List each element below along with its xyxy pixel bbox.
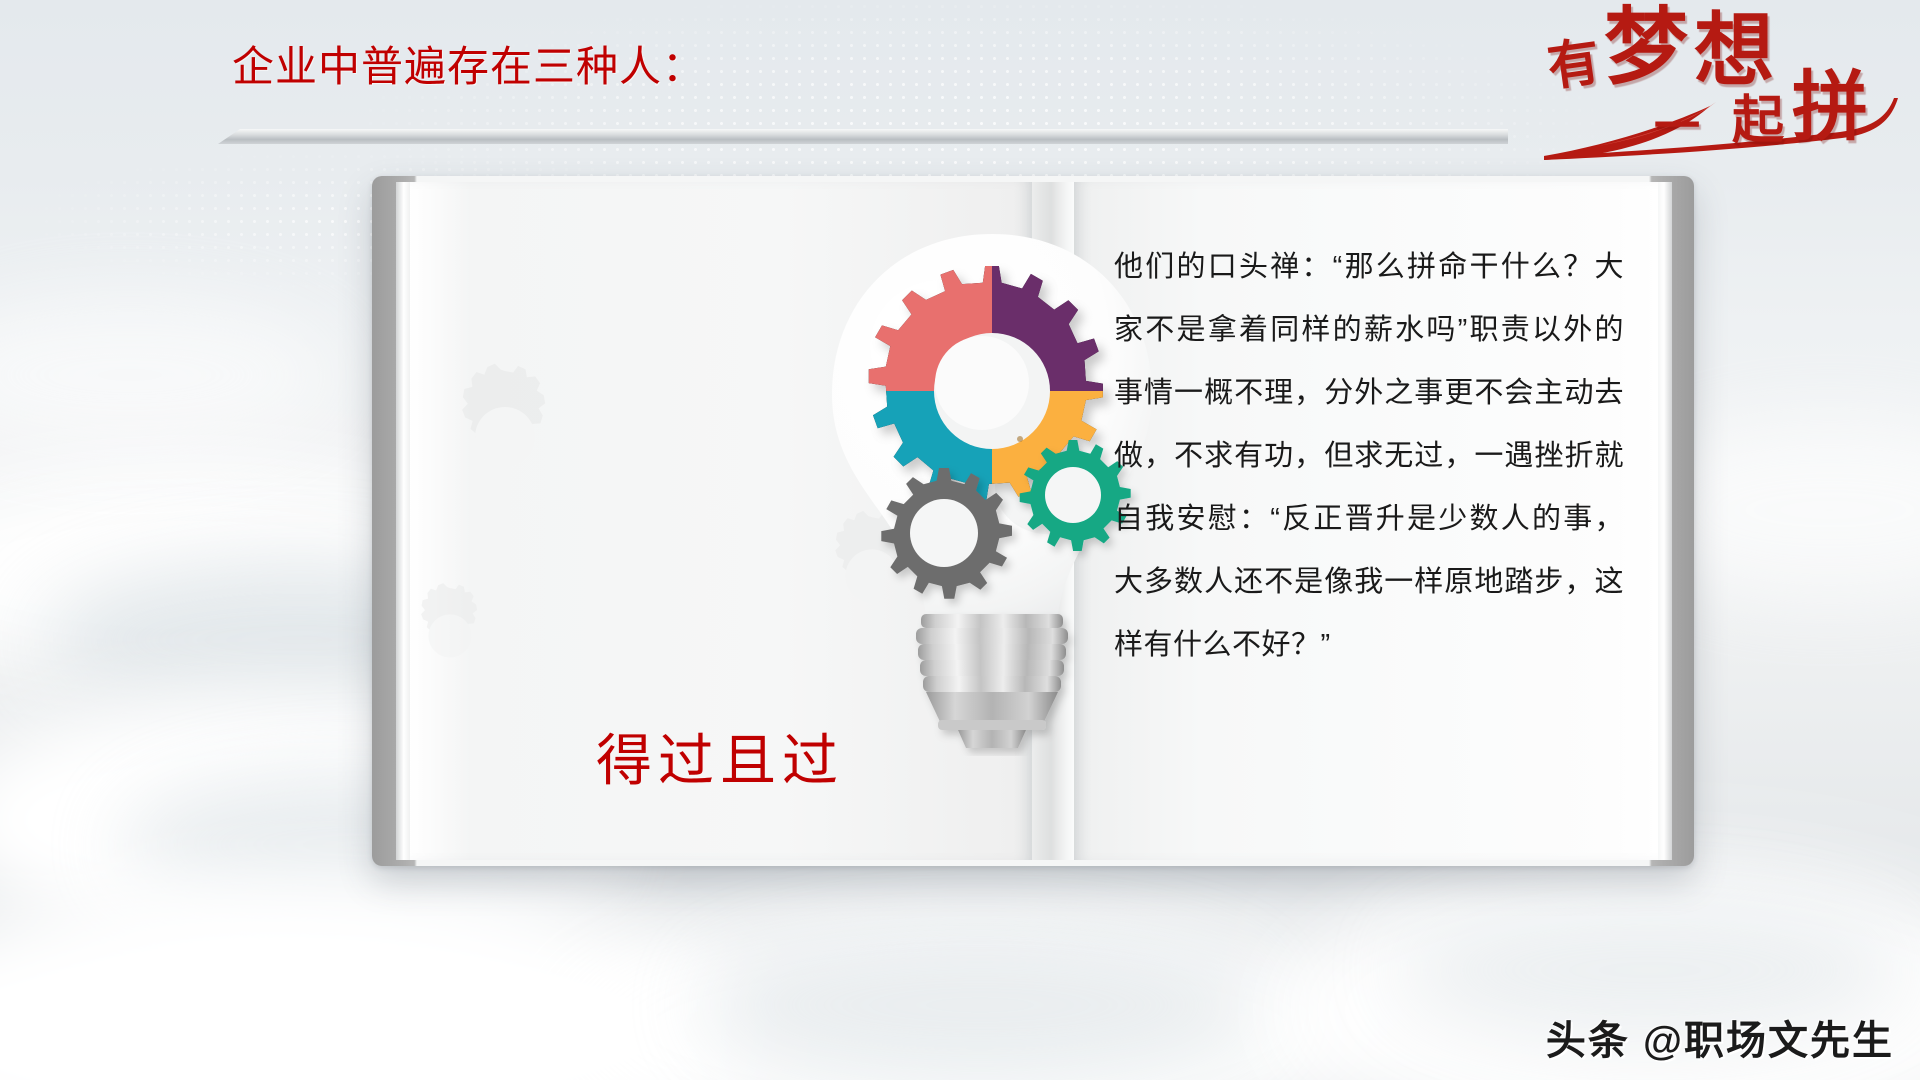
body-paragraph: 他们的口头禅：“那么拼命干什么？大家不是拿着同样的薪水吗”职责以外的事情一概不理… [1114, 236, 1624, 677]
title-divider [218, 129, 1508, 144]
ghost-gear-icon [430, 362, 580, 512]
bulb-caption: 得过且过 [408, 716, 1032, 797]
open-book: 得过且过 他们的口头禅：“那么拼命干什么？大家不是拿着同样的薪水吗”职责以外的事… [372, 176, 1694, 866]
ghost-gear-icon [390, 576, 510, 696]
slide-canvas: 企业中普遍存在三种人： 有 梦 想 一 起 拼 [0, 0, 1920, 1080]
cloud-shape [0, 880, 750, 1080]
cloud-shape [560, 900, 1380, 1080]
watermark: 头条 @职场文先生 [1546, 1008, 1894, 1066]
cloud-shape [0, 300, 340, 450]
book-edge-right [1658, 182, 1672, 860]
page-title: 企业中普遍存在三种人： [232, 47, 705, 89]
cloud-shape [700, 930, 1260, 1080]
